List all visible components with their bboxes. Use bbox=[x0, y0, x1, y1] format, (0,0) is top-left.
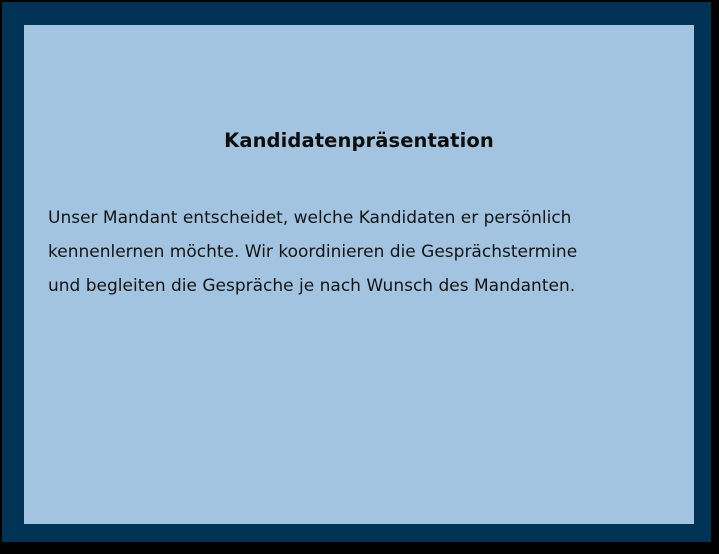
slide-body: Unser Mandant entscheidet, welche Kandid… bbox=[48, 201, 668, 303]
slide-body-line: kennenlernen möchte. Wir koordinieren di… bbox=[48, 235, 668, 269]
slide-body-line: und begleiten die Gespräche je nach Wuns… bbox=[48, 269, 668, 303]
slide-title: Kandidatenpräsentation bbox=[24, 129, 694, 152]
slide-body-line: Unser Mandant entscheidet, welche Kandid… bbox=[48, 201, 668, 235]
slide-content-panel: Kandidatenpräsentation Unser Mandant ent… bbox=[24, 25, 694, 524]
slide-frame: Kandidatenpräsentation Unser Mandant ent… bbox=[0, 0, 711, 542]
